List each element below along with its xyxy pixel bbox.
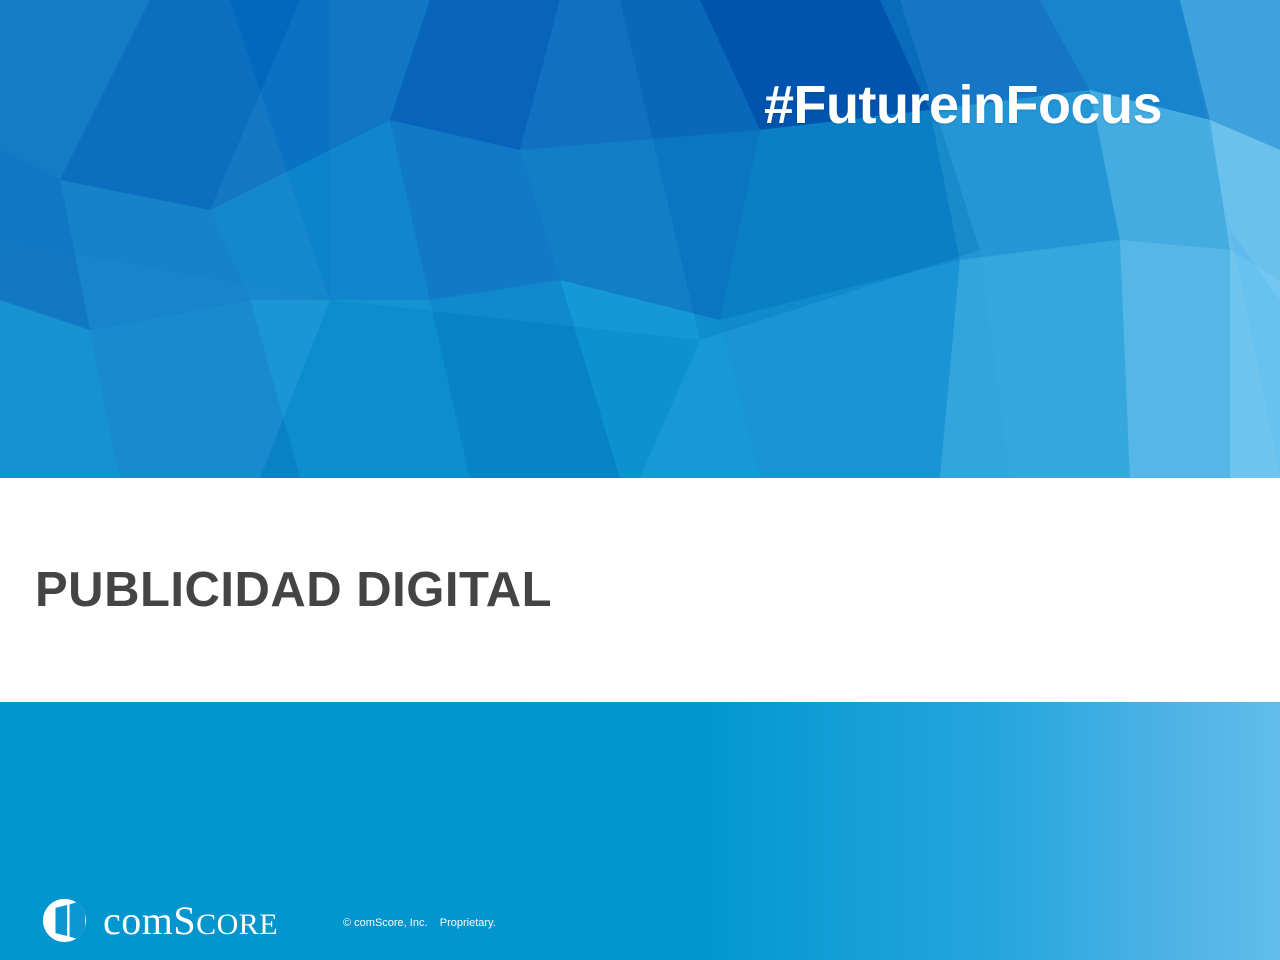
low-poly-background-graphic [0,0,1280,478]
page-title: PUBLICIDAD DIGITAL [35,564,552,617]
title-banner: #FutureinFocus [0,0,1280,478]
footer-bar: comSCORE © comScore, Inc. Proprietary. [0,702,1280,960]
hashtag-title: #FutureinFocus [764,76,1162,135]
wordmark-com: com [103,898,173,943]
copyright-notice: © comScore, Inc. Proprietary. [343,917,496,930]
wordmark-s: S [173,898,196,943]
comscore-wordmark: comSCORE [103,901,278,941]
comscore-logo: comSCORE [42,898,278,943]
presentation-slide: #FutureinFocus PUBLICIDAD DIGITAL com [0,0,1280,960]
comscore-circle-icon [42,898,87,943]
wordmark-core: CORE [196,908,278,941]
content-band: PUBLICIDAD DIGITAL [0,478,1280,702]
